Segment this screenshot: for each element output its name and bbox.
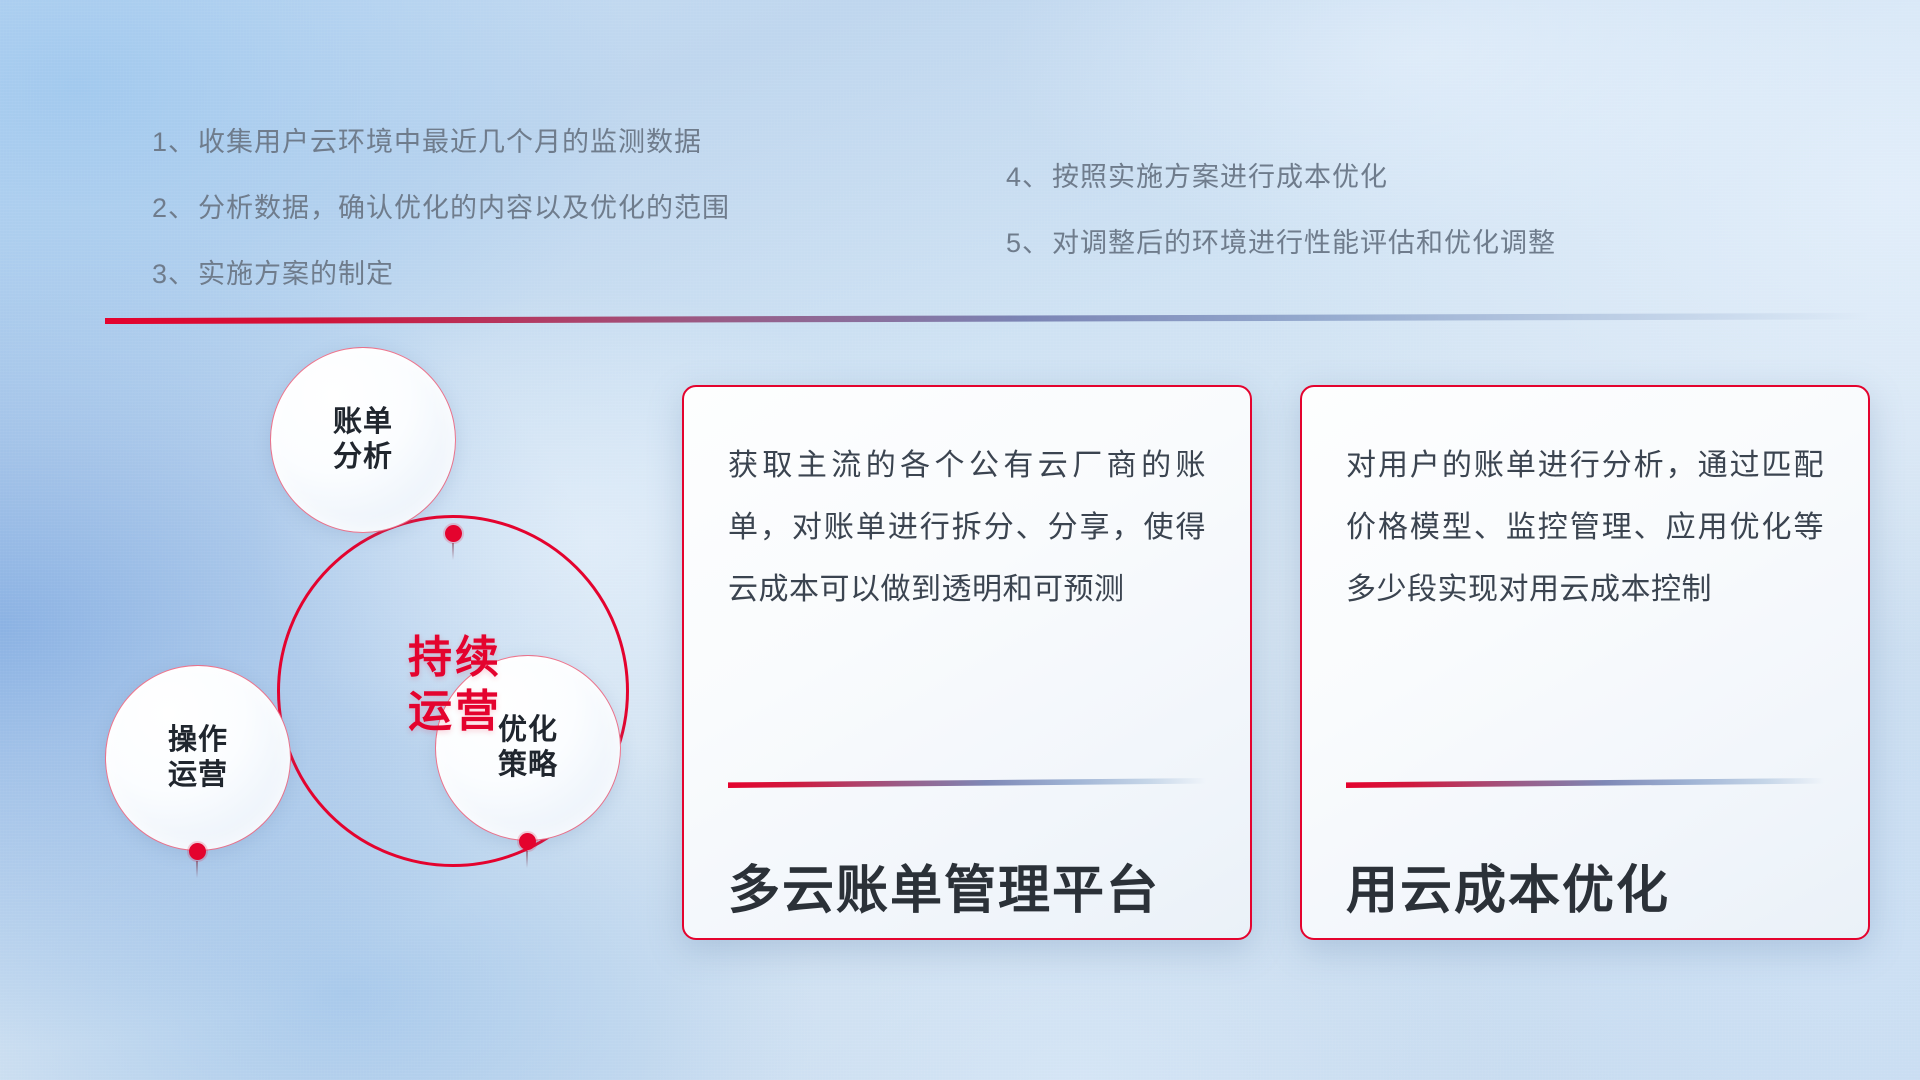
venn-node-label-line1: 操作 (168, 723, 228, 758)
step-item: 3、 实施方案的制定 (152, 252, 730, 291)
card-divider-line (1346, 778, 1824, 788)
step-number: 5、 (1006, 221, 1050, 260)
venn-diagram: 账单 分析 操作 运营 优化 策略 持续 运营 (95, 355, 655, 965)
step-text: 实施方案的制定 (198, 252, 394, 291)
card-body-text: 获取主流的各个公有云厂商的账单，对账单进行拆分、分享，使得云成本可以做到透明和可… (728, 435, 1206, 620)
venn-node-operations[interactable]: 操作 运营 (105, 665, 291, 851)
venn-node-dot (189, 843, 206, 860)
venn-center-label-line2: 运营 (408, 685, 502, 739)
feature-card-multicloud-billing[interactable]: 获取主流的各个公有云厂商的账单，对账单进行拆分、分享，使得云成本可以做到透明和可… (682, 385, 1252, 940)
venn-connector-tick (526, 851, 528, 868)
venn-node-label-line2: 运营 (168, 758, 228, 793)
card-body-text: 对用户的账单进行分析，通过匹配价格模型、监控管理、应用优化等多少段实现对用云成本… (1346, 435, 1824, 620)
card-divider-line (728, 778, 1206, 788)
step-text: 分析数据，确认优化的内容以及优化的范围 (198, 186, 730, 225)
venn-connector-tick (452, 543, 454, 560)
card-title: 多云账单管理平台 (728, 788, 1206, 938)
venn-connector-tick (196, 861, 198, 878)
venn-node-dot (519, 833, 536, 850)
venn-node-bill-analysis[interactable]: 账单 分析 (270, 347, 456, 533)
step-item: 1、 收集用户云环境中最近几个月的监测数据 (152, 120, 730, 159)
step-number: 2、 (152, 186, 196, 225)
venn-node-label-line2: 分析 (333, 440, 393, 475)
step-number: 3、 (152, 252, 196, 291)
step-number: 1、 (152, 120, 196, 159)
step-text: 收集用户云环境中最近几个月的监测数据 (198, 120, 702, 159)
card-title: 用云成本优化 (1346, 788, 1824, 938)
venn-center-label: 持续 运营 (335, 605, 575, 765)
feature-card-cloud-cost-optimization[interactable]: 对用户的账单进行分析，通过匹配价格模型、监控管理、应用优化等多少段实现对用云成本… (1300, 385, 1870, 940)
venn-node-label-line1: 账单 (333, 405, 393, 440)
step-number: 4、 (1006, 155, 1050, 194)
step-item: 5、 对调整后的环境进行性能评估和优化调整 (1006, 221, 1556, 260)
steps-right-column: 4、 按照实施方案进行成本优化 5、 对调整后的环境进行性能评估和优化调整 (1006, 155, 1556, 287)
step-item: 4、 按照实施方案进行成本优化 (1006, 155, 1556, 194)
step-text: 按照实施方案进行成本优化 (1052, 155, 1388, 194)
venn-node-dot (445, 525, 462, 542)
venn-center-label-line1: 持续 (408, 631, 502, 685)
steps-left-column: 1、 收集用户云环境中最近几个月的监测数据 2、 分析数据，确认优化的内容以及优… (152, 120, 730, 318)
step-item: 2、 分析数据，确认优化的内容以及优化的范围 (152, 186, 730, 225)
step-text: 对调整后的环境进行性能评估和优化调整 (1052, 221, 1556, 260)
